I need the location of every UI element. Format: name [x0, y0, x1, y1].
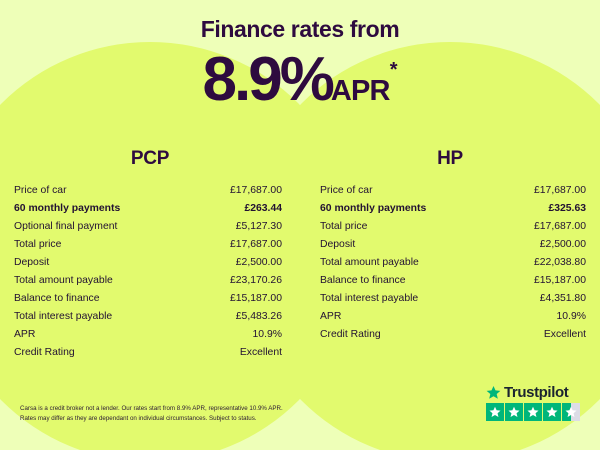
disclaimer-line-2: Rates may differ as they are dependant o…	[20, 414, 350, 424]
row-label: Price of car	[320, 182, 373, 200]
header: Finance rates from 8.9% APR *	[0, 14, 600, 114]
row-value: £17,687.00	[230, 182, 282, 200]
row-label: Balance to finance	[14, 290, 100, 308]
row-value: £15,187.00	[230, 290, 282, 308]
rate-value: 8.9%	[203, 46, 332, 114]
row-label: APR	[320, 308, 341, 326]
star-icon	[527, 406, 539, 418]
row-label: Balance to finance	[320, 272, 406, 290]
table-row: APR10.9%	[320, 308, 586, 326]
finance-comparison-tables: PCP Price of car£17,687.00 60 monthly pa…	[0, 148, 600, 362]
row-value: 10.9%	[253, 326, 282, 344]
disclaimer-line-1: Carsa is a credit broker not a lender. O…	[20, 404, 350, 414]
row-label: Total amount payable	[320, 254, 419, 272]
star-tile	[543, 403, 561, 421]
table-row: Total interest payable£4,351.80	[320, 290, 586, 308]
plan-title-pcp: PCP	[0, 148, 300, 170]
row-value: £2,500.00	[236, 254, 282, 272]
table-row: Deposit£2,500.00	[14, 254, 282, 272]
row-label: Total price	[320, 218, 367, 236]
row-value: £2,500.00	[540, 236, 586, 254]
row-value: £5,127.30	[236, 218, 282, 236]
table-row: Price of car£17,687.00	[320, 182, 586, 200]
table-row: Total price£17,687.00	[14, 236, 282, 254]
table-row: Price of car£17,687.00	[14, 182, 282, 200]
row-value: 10.9%	[557, 308, 586, 326]
row-value: £17,687.00	[534, 182, 586, 200]
row-value: £15,187.00	[534, 272, 586, 290]
row-value: Excellent	[544, 326, 586, 344]
row-label: Total interest payable	[14, 308, 112, 326]
plan-pcp: PCP Price of car£17,687.00 60 monthly pa…	[0, 148, 300, 362]
row-label: Deposit	[14, 254, 49, 272]
star-tile	[524, 403, 542, 421]
rate-asterisk: *	[390, 60, 398, 80]
finance-rates-graphic: Finance rates from 8.9% APR * PCP Price …	[0, 0, 600, 450]
table-row: Total amount payable£22,038.80	[320, 254, 586, 272]
star-icon	[546, 406, 558, 418]
table-row: 60 monthly payments£325.63	[320, 200, 586, 218]
disclaimer-text: Carsa is a credit broker not a lender. O…	[20, 404, 350, 423]
table-row: Optional final payment£5,127.30	[14, 218, 282, 236]
row-label: Optional final payment	[14, 218, 117, 236]
row-value: £17,687.00	[230, 236, 282, 254]
row-label: 60 monthly payments	[320, 200, 426, 218]
plan-rows-pcp: Price of car£17,687.00 60 monthly paymen…	[0, 182, 300, 362]
plan-hp: HP Price of car£17,687.00 60 monthly pay…	[300, 148, 600, 362]
row-label: 60 monthly payments	[14, 200, 120, 218]
row-value: £5,483.26	[236, 308, 282, 326]
row-label: Total interest payable	[320, 290, 418, 308]
plan-title-hp: HP	[300, 148, 600, 170]
row-label: Credit Rating	[14, 344, 75, 362]
table-row: Credit RatingExcellent	[14, 344, 282, 362]
table-row: APR10.9%	[14, 326, 282, 344]
trustpilot-stars	[486, 403, 586, 421]
row-value: £4,351.80	[540, 290, 586, 308]
row-value: £263.44	[244, 200, 282, 218]
row-value: £23,170.26	[230, 272, 282, 290]
rate-unit: APR	[331, 71, 390, 111]
row-value: Excellent	[240, 344, 282, 362]
row-label: Deposit	[320, 236, 355, 254]
row-label: APR	[14, 326, 35, 344]
star-icon	[565, 406, 577, 418]
trustpilot-logo: Trustpilot	[486, 385, 586, 400]
star-tile-half	[562, 403, 580, 421]
table-row: Total price£17,687.00	[320, 218, 586, 236]
trustpilot-wordmark: Trustpilot	[504, 385, 568, 400]
table-row: Total interest payable£5,483.26	[14, 308, 282, 326]
table-row: Credit RatingExcellent	[320, 326, 586, 344]
table-row: 60 monthly payments£263.44	[14, 200, 282, 218]
table-row: Balance to finance£15,187.00	[320, 272, 586, 290]
row-label: Total price	[14, 236, 61, 254]
row-label: Credit Rating	[320, 326, 381, 344]
row-label: Price of car	[14, 182, 67, 200]
plan-rows-hp: Price of car£17,687.00 60 monthly paymen…	[300, 182, 600, 344]
row-value: £325.63	[548, 200, 586, 218]
star-tile	[505, 403, 523, 421]
star-tile	[486, 403, 504, 421]
table-row: Deposit£2,500.00	[320, 236, 586, 254]
trustpilot-rating[interactable]: Trustpilot	[486, 385, 586, 421]
star-icon	[489, 406, 501, 418]
row-value: £17,687.00	[534, 218, 586, 236]
table-row: Balance to finance£15,187.00	[14, 290, 282, 308]
table-row: Total amount payable£23,170.26	[14, 272, 282, 290]
headline-rate: 8.9% APR *	[0, 46, 600, 114]
row-value: £22,038.80	[534, 254, 586, 272]
page-title: Finance rates from	[0, 14, 600, 44]
trustpilot-star-icon	[486, 385, 501, 400]
row-label: Total amount payable	[14, 272, 113, 290]
star-icon	[508, 406, 520, 418]
